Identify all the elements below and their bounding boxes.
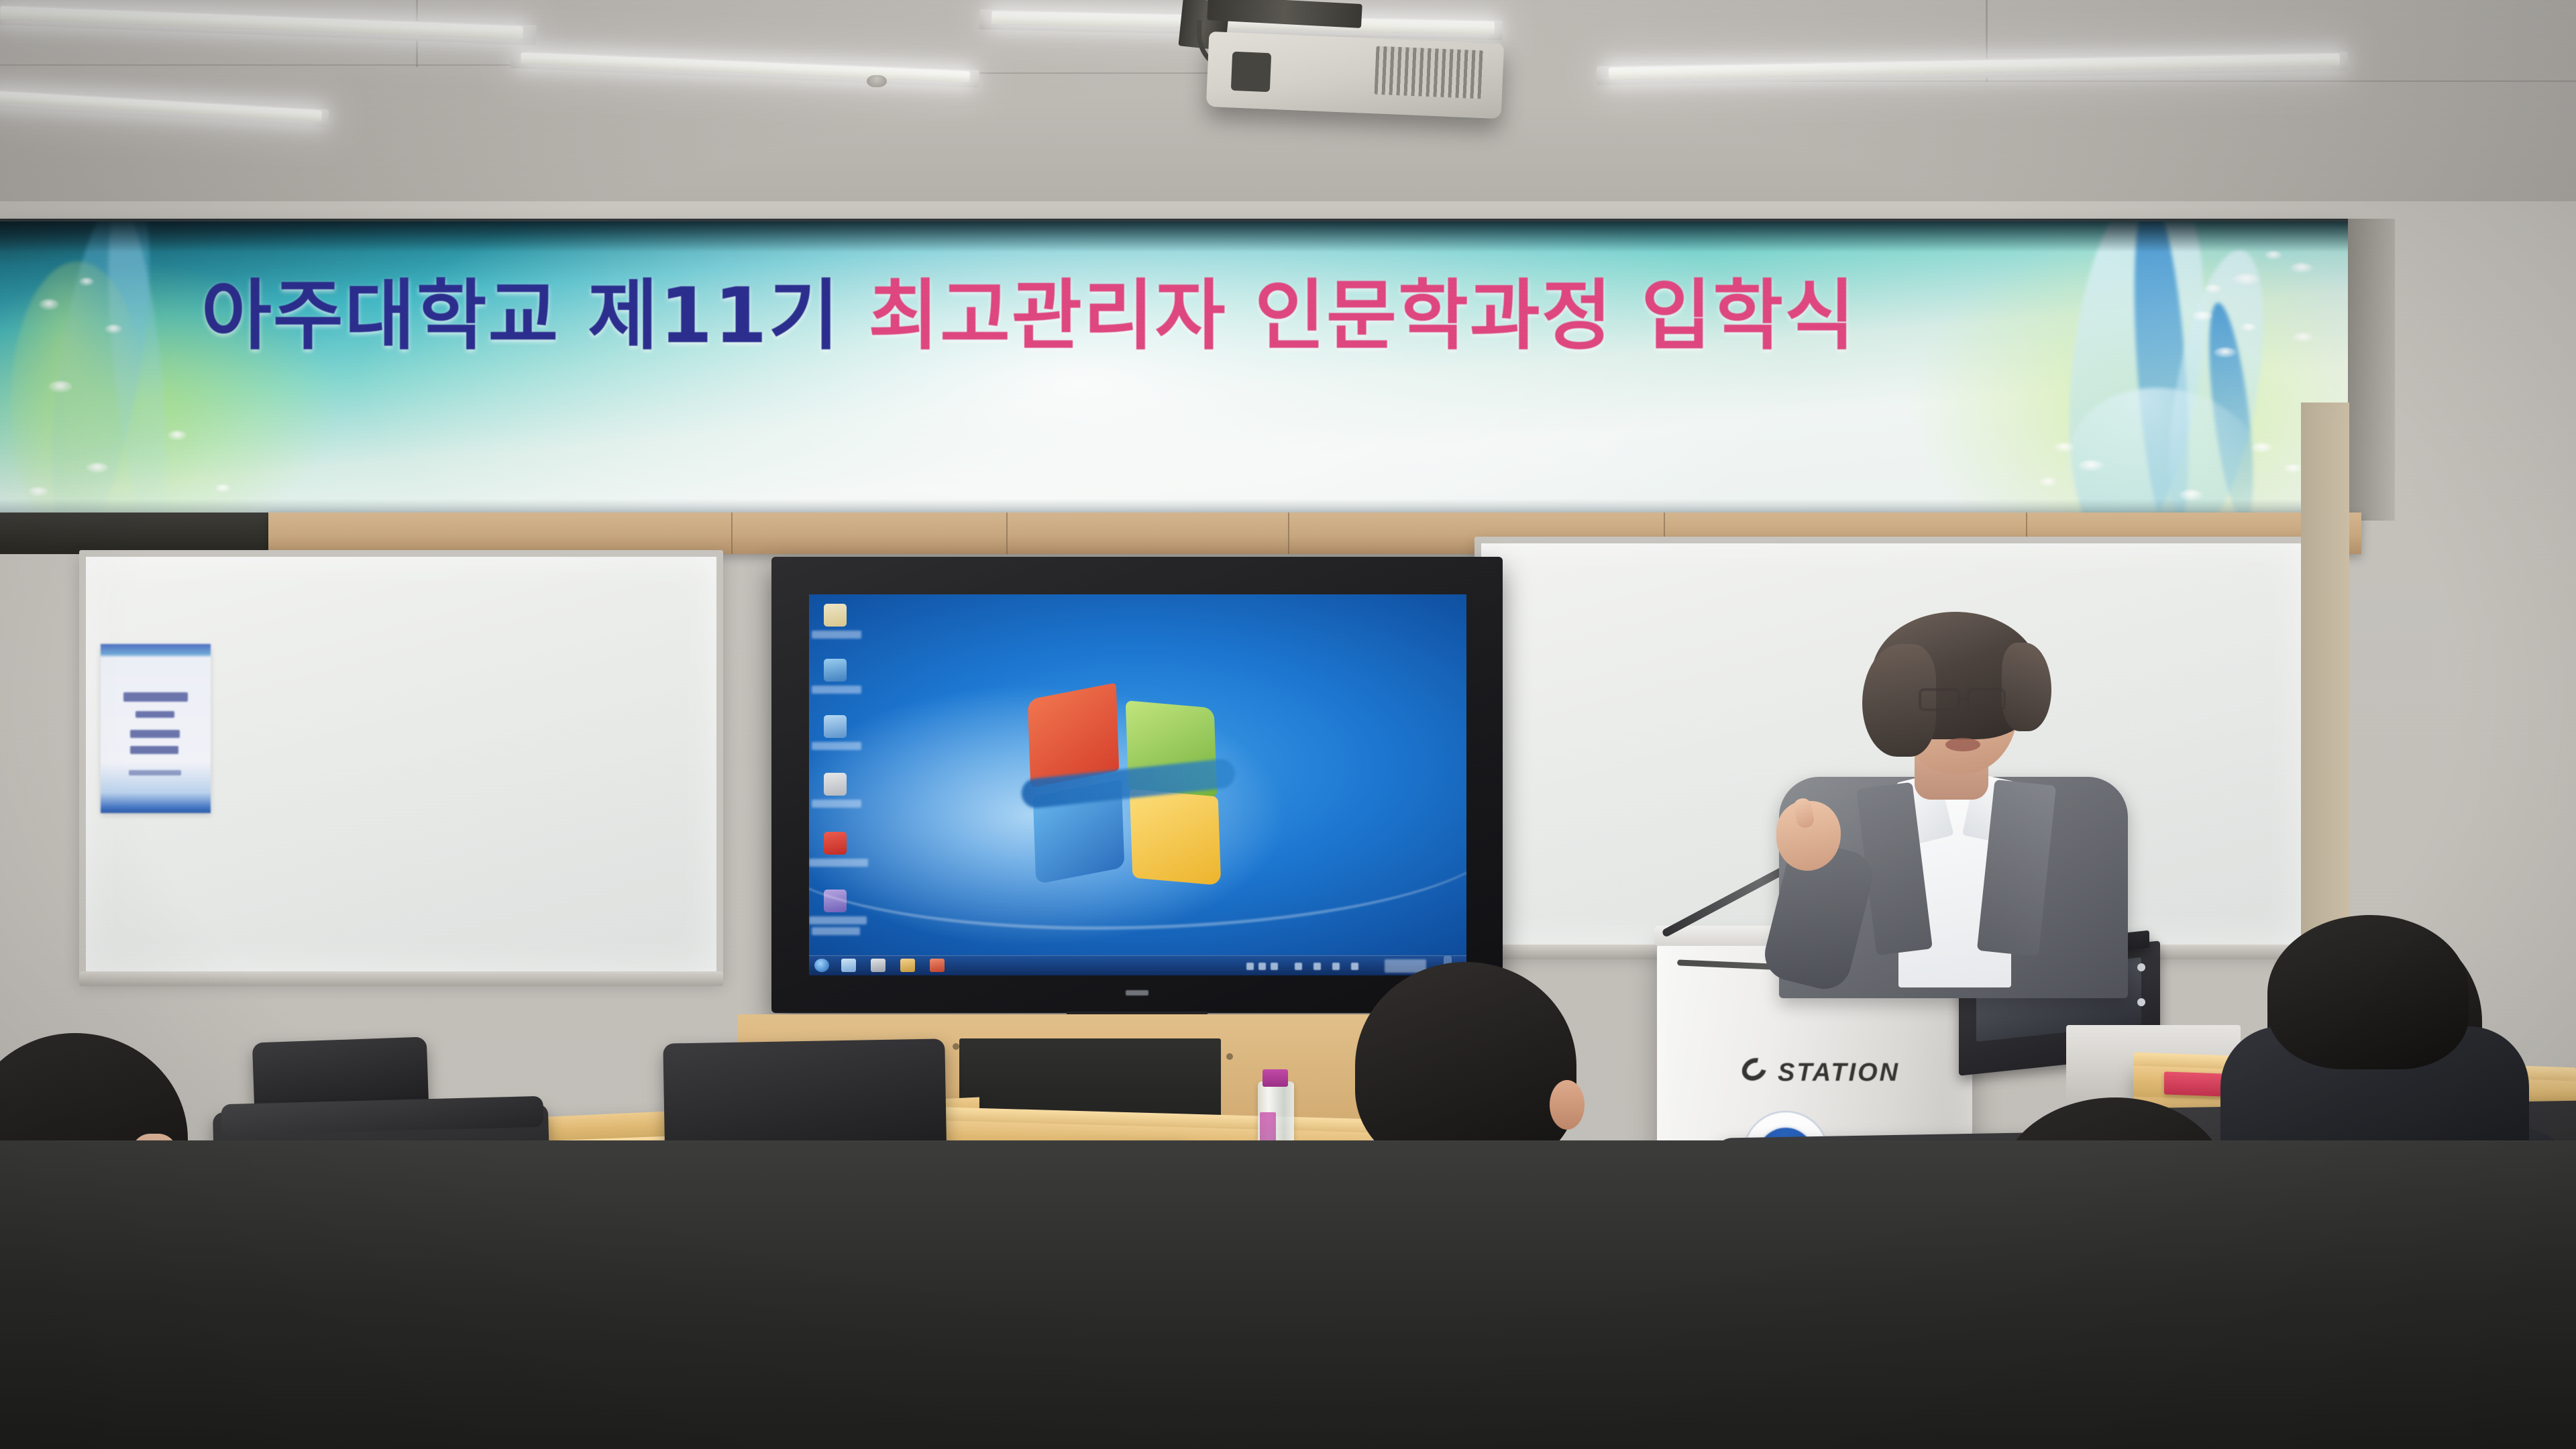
desktop-icon-folder[interactable] xyxy=(824,659,847,682)
banner-bokeh-dot xyxy=(168,431,186,440)
speaker-glasses-bridge xyxy=(1959,698,1970,700)
tray-icon-keyboard[interactable] xyxy=(1271,963,1278,970)
floor xyxy=(0,1140,2576,1449)
tray-icon-ime[interactable] xyxy=(1246,963,1254,970)
taskbar-item[interactable] xyxy=(930,959,945,972)
podium-panel-screw xyxy=(2137,998,2145,1006)
valance-seam xyxy=(731,513,733,554)
projector-lens xyxy=(1231,52,1271,92)
banner-background-gradient xyxy=(0,221,2348,517)
banner-title-navy: 아주대학교 제11기 xyxy=(201,271,868,360)
banner-bokeh-dot xyxy=(215,484,231,492)
banner-right-endcap xyxy=(2348,219,2395,521)
tray-icon-action-center[interactable] xyxy=(1351,963,1358,970)
wallpaper-light-swoosh xyxy=(809,755,1466,930)
banner-bokeh-dot xyxy=(79,278,94,286)
banner-bokeh-dot xyxy=(2214,347,2237,358)
banner-bokeh-dot xyxy=(2078,460,2104,471)
desktop-icon-label xyxy=(812,927,860,935)
tray-icon-show-hidden[interactable] xyxy=(1295,963,1302,970)
wall-poster xyxy=(101,644,211,813)
sprinkler-head xyxy=(867,75,887,87)
desktop-icon-computer[interactable] xyxy=(824,715,847,738)
desktop-icon-label xyxy=(812,631,861,639)
taskbar-item[interactable] xyxy=(871,959,885,972)
valance-seam xyxy=(1288,513,1289,554)
poster-text-line xyxy=(130,730,180,738)
desktop-icon-label xyxy=(812,742,861,750)
valance-dark-left xyxy=(0,513,275,554)
audience-ear xyxy=(1550,1080,1585,1130)
banner-bokeh-dot xyxy=(105,325,122,333)
lecture-hall-photo: 아주대학교 제11기 최고관리자 인문학과정 입학식 일시 : 2019. 3.… xyxy=(0,0,2576,1449)
speaker-glasses-right-lens xyxy=(1967,688,2006,711)
projector-vent xyxy=(1375,46,1484,99)
banner-bokeh-dot xyxy=(2233,274,2259,285)
banner-bokeh-dot xyxy=(2241,323,2257,331)
banner-bokeh-dot xyxy=(2251,443,2273,453)
windows-desktop-screen xyxy=(809,594,1466,975)
podium-brand-text: STATION xyxy=(1778,1059,1900,1087)
banner-bokeh-dot xyxy=(48,381,72,392)
cabinet-screw xyxy=(953,1043,959,1050)
banner-bokeh-dot xyxy=(86,463,109,473)
taskbar-item[interactable] xyxy=(841,959,856,972)
banner-bokeh-dot xyxy=(2290,263,2313,273)
poster-text-line xyxy=(129,770,181,775)
poster-text-line xyxy=(136,711,174,718)
desktop-icon-label xyxy=(812,686,861,694)
cabinet-screw xyxy=(1226,1053,1233,1060)
audience-hair xyxy=(1355,962,1576,1170)
start-button[interactable] xyxy=(814,959,829,972)
whiteboard-left-tray xyxy=(79,971,723,986)
banner-bokeh-dot xyxy=(2284,464,2302,473)
monitor-brand-badge xyxy=(1126,990,1148,996)
event-banner: 아주대학교 제11기 최고관리자 인문학과정 입학식 일시 : 2019. 3.… xyxy=(0,221,2348,517)
banner-bokeh-dot xyxy=(2293,333,2313,342)
banner-bokeh-dot xyxy=(2039,478,2057,486)
desktop-icon-document[interactable] xyxy=(824,604,847,627)
banner-title: 아주대학교 제11기 최고관리자 인문학과정 입학식 xyxy=(201,278,1856,354)
valance-seam xyxy=(1006,513,1008,554)
banner-bokeh-dot xyxy=(2204,284,2222,293)
banner-top-shade xyxy=(0,221,2348,252)
speaker-mouth xyxy=(1945,738,1980,751)
desktop-icon-label xyxy=(809,916,867,924)
banner-bokeh-dot xyxy=(2054,443,2074,452)
banner-title-magenta: 최고관리자 인문학과정 입학식 xyxy=(868,271,1856,360)
poster-text-line xyxy=(123,692,188,702)
tray-icon-ime-mode[interactable] xyxy=(1258,963,1266,970)
water-bottle-cap[interactable] xyxy=(1263,1069,1288,1087)
audience-hair xyxy=(2267,915,2469,1069)
tray-icon-volume[interactable] xyxy=(1332,963,1340,970)
banner-bokeh-dot xyxy=(28,487,48,496)
poster-text-line xyxy=(130,746,178,754)
podium-panel-screw xyxy=(2137,963,2145,971)
speaker-glasses-left-lens xyxy=(1919,688,1960,711)
tray-icon-network[interactable] xyxy=(1313,963,1321,970)
banner-bokeh-dot xyxy=(39,299,59,310)
windows-taskbar[interactable] xyxy=(809,955,1466,975)
banner-bokeh-dot xyxy=(2192,311,2212,321)
taskbar-item[interactable] xyxy=(900,959,915,972)
